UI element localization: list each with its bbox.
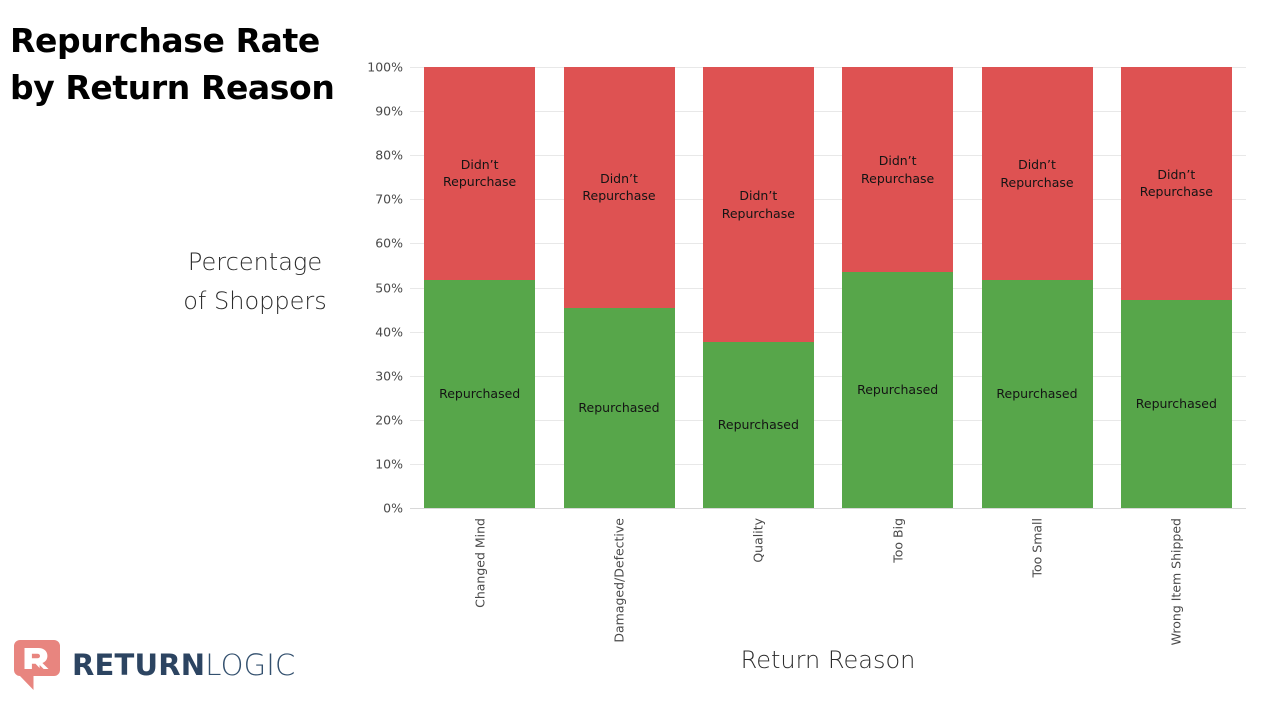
returnlogic-logo: RETURNLOGIC	[14, 640, 296, 690]
y-axis-tick-label: 100%	[367, 60, 403, 75]
y-axis-tick-label: 90%	[375, 104, 403, 119]
bar-group[interactable]: Didn’t RepurchaseRepurchased	[1121, 67, 1232, 508]
page-title: Repurchase Rate by Return Reason	[10, 18, 370, 112]
x-axis-tick-label-text: Changed Mind	[472, 518, 487, 608]
bar-segment-repurchased[interactable]: Repurchased	[703, 342, 814, 508]
y-axis-tick-label: 60%	[375, 236, 403, 251]
logo-word-logic: LOGIC	[205, 648, 295, 682]
bar-group[interactable]: Didn’t RepurchaseRepurchased	[703, 67, 814, 508]
x-axis-tick-label-text: Too Big	[890, 518, 905, 563]
bar-segment-didnt-repurchase[interactable]: Didn’t Repurchase	[703, 67, 814, 342]
bar-segment-label: Repurchased	[439, 385, 520, 403]
bar-segment-label: Didn’t Repurchase	[1000, 156, 1073, 192]
bar-segment-repurchased[interactable]: Repurchased	[982, 280, 1093, 508]
x-axis-tick-label-text: Too Small	[1030, 518, 1045, 578]
x-axis-tick-label: Wrong Item Shipped	[1121, 518, 1232, 638]
bar-segment-didnt-repurchase[interactable]: Didn’t Repurchase	[424, 67, 535, 280]
x-axis-tick-label: Changed Mind	[424, 518, 535, 638]
y-axis-tick-label: 80%	[375, 148, 403, 163]
bar-segment-repurchased[interactable]: Repurchased	[564, 308, 675, 508]
x-axis-tick-label-text: Damaged/Defective	[612, 518, 627, 643]
bar-segment-didnt-repurchase[interactable]: Didn’t Repurchase	[842, 67, 953, 272]
y-axis-tick-label: 20%	[375, 412, 403, 427]
y-axis-tick-labels: 100%90%80%70%60%50%40%30%20%10%0%	[355, 67, 403, 508]
returnlogic-wordmark: RETURNLOGIC	[72, 651, 296, 680]
x-axis-tick-label: Too Big	[842, 518, 953, 638]
bar-segment-repurchased[interactable]: Repurchased	[424, 280, 535, 508]
y-axis-tick-label: 70%	[375, 192, 403, 207]
x-axis-tick-label-text: Wrong Item Shipped	[1169, 518, 1184, 645]
bar-segment-repurchased[interactable]: Repurchased	[842, 272, 953, 508]
bar-segment-didnt-repurchase[interactable]: Didn’t Repurchase	[564, 67, 675, 308]
bar-series-container: Didn’t RepurchaseRepurchasedDidn’t Repur…	[410, 67, 1246, 508]
y-axis-title: Percentage of Shoppers	[150, 243, 360, 321]
bar-group[interactable]: Didn’t RepurchaseRepurchased	[982, 67, 1093, 508]
x-axis-tick-label-text: Quality	[751, 518, 766, 563]
logo-word-return: RETURN	[72, 648, 205, 682]
bar-segment-label: Repurchased	[578, 399, 659, 417]
bar-group[interactable]: Didn’t RepurchaseRepurchased	[842, 67, 953, 508]
x-axis-tick-label: Quality	[703, 518, 814, 638]
x-axis-tick-label: Too Small	[982, 518, 1093, 638]
bar-group[interactable]: Didn’t RepurchaseRepurchased	[424, 67, 535, 508]
returnlogic-r-mark-icon	[14, 640, 60, 690]
x-axis-tick-label: Damaged/Defective	[564, 518, 675, 638]
y-axis-tick-label: 10%	[375, 456, 403, 471]
x-axis-tick-labels: Changed MindDamaged/DefectiveQualityToo …	[410, 508, 1246, 638]
y-axis-tick-label: 30%	[375, 368, 403, 383]
bar-segment-label: Repurchased	[857, 381, 938, 399]
bar-segment-didnt-repurchase[interactable]: Didn’t Repurchase	[1121, 67, 1232, 300]
plot-area: Didn’t RepurchaseRepurchasedDidn’t Repur…	[410, 67, 1246, 508]
y-axis-tick-label: 40%	[375, 324, 403, 339]
y-axis-tick-label: 50%	[375, 280, 403, 295]
bar-segment-label: Repurchased	[718, 416, 799, 434]
bar-segment-label: Didn’t Repurchase	[861, 152, 934, 188]
bar-segment-label: Repurchased	[1136, 395, 1217, 413]
x-axis-title: Return Reason	[410, 646, 1246, 674]
bar-segment-didnt-repurchase[interactable]: Didn’t Repurchase	[982, 67, 1093, 280]
bar-segment-label: Repurchased	[996, 385, 1077, 403]
bar-segment-label: Didn’t Repurchase	[722, 187, 795, 223]
bar-segment-label: Didn’t Repurchase	[1140, 166, 1213, 202]
y-axis-tick-label: 0%	[383, 501, 403, 516]
bar-group[interactable]: Didn’t RepurchaseRepurchased	[564, 67, 675, 508]
bar-segment-repurchased[interactable]: Repurchased	[1121, 300, 1232, 508]
bar-segment-label: Didn’t Repurchase	[443, 156, 516, 192]
bar-segment-label: Didn’t Repurchase	[582, 170, 655, 206]
